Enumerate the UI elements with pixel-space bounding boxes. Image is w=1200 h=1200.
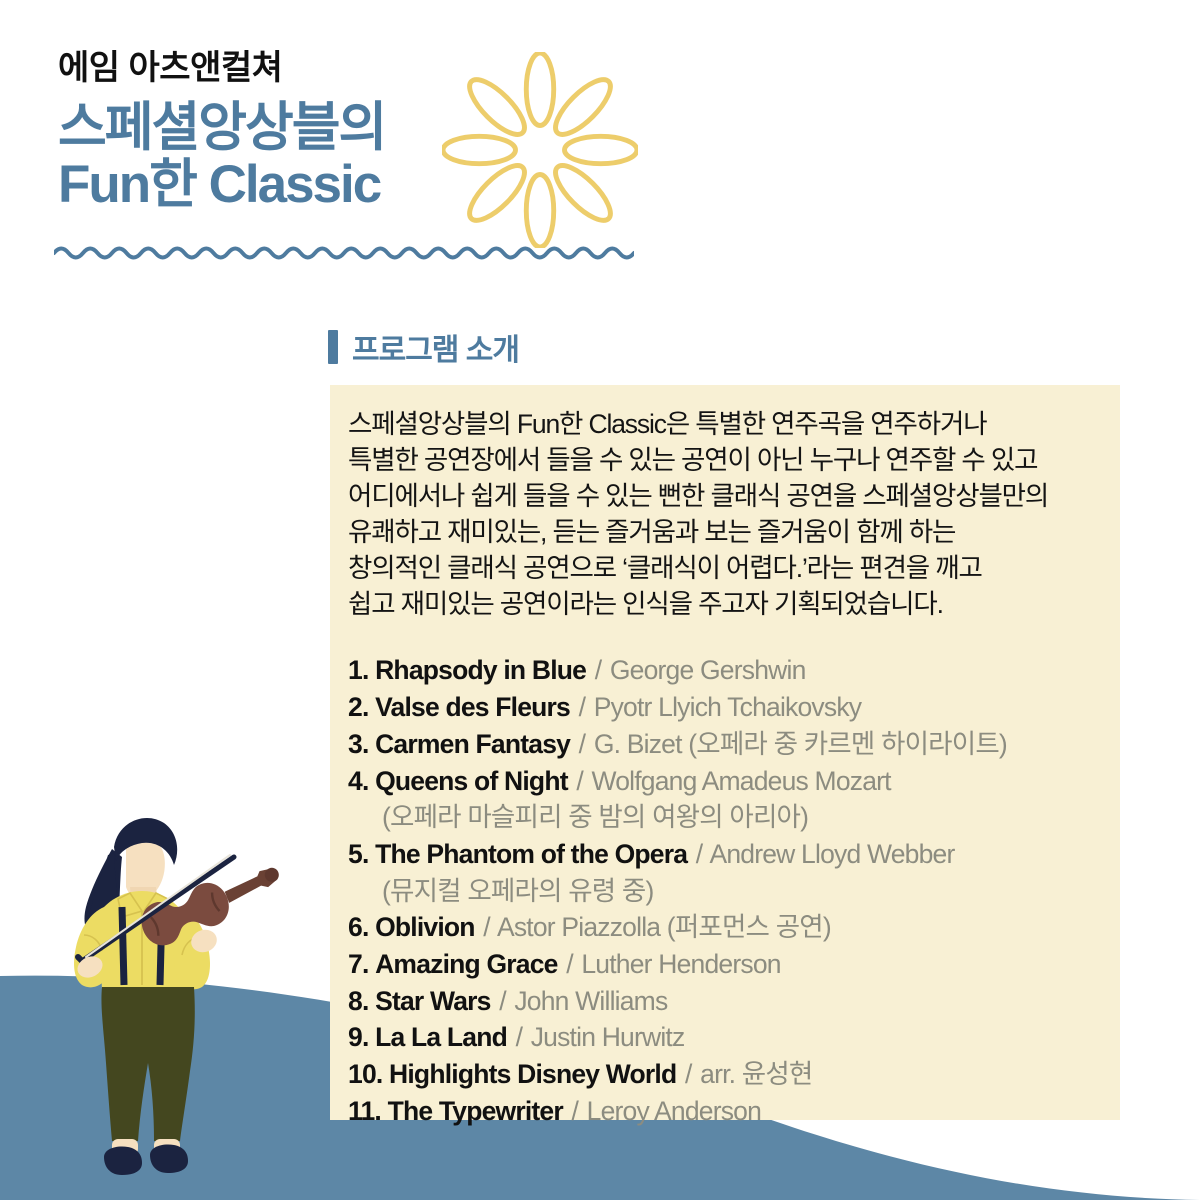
program-title: Highlights Disney World (389, 1059, 676, 1089)
program-separator: / (514, 1022, 525, 1052)
program-title: Queens of Night (375, 766, 568, 796)
program-list: 1. Rhapsody in Blue / George Gershwin 2.… (348, 652, 1106, 1129)
list-item: 3. Carmen Fantasy / G. Bizet (오페라 중 카르멘 … (348, 726, 1106, 763)
program-separator: / (497, 986, 508, 1016)
section-title-label: 프로그램 소개 (352, 325, 519, 369)
page-title-line-1: 스페셜앙상블의 (58, 99, 678, 156)
description-line: 스페셜앙상블의 Fun한 Classic은 특별한 연주곡을 연주하거나 (348, 407, 1106, 443)
program-composer: George Gershwin (610, 655, 806, 685)
list-item: 9. La La Land / Justin Hurwitz (348, 1019, 1106, 1056)
program-composer: Andrew Lloyd Webber (709, 839, 954, 869)
program-number: 3. (348, 729, 369, 759)
wavy-line-divider-icon (54, 240, 634, 266)
program-title: Carmen Fantasy (375, 729, 570, 759)
program-subtitle: (뮤지컬 오페라의 유령 중) (348, 873, 1106, 910)
list-item: 4. Queens of Night / Wolfgang Amadeus Mo… (348, 763, 1106, 836)
violinist-illustration (38, 795, 338, 1200)
organization-name: 에임 아츠앤컬쳐 (58, 48, 678, 89)
description-line: 유쾌하고 재미있는, 듣는 즐거움과 보는 즐거움이 함께 하는 (348, 515, 1106, 551)
program-composer: Leroy Anderson (587, 1096, 761, 1126)
program-composer: Luther Henderson (581, 949, 780, 979)
program-description: 스페셜앙상블의 Fun한 Classic은 특별한 연주곡을 연주하거나 특별한… (348, 407, 1106, 622)
page-title-line-2: Fun한 Classic (58, 156, 678, 213)
program-composer: arr. 윤성현 (700, 1059, 812, 1089)
program-number: 4. (348, 766, 369, 796)
program-number: 8. (348, 986, 369, 1016)
poster-canvas: 에임 아츠앤컬쳐 스페셜앙상블의 Fun한 Classic 프로그램 소개 (0, 0, 1200, 1200)
program-number: 6. (348, 912, 369, 942)
program-separator: / (593, 655, 604, 685)
program-number: 2. (348, 692, 369, 722)
program-composer: Pyotr Llyich Tchaikovsky (594, 692, 862, 722)
list-item: 8. Star Wars / John Williams (348, 983, 1106, 1020)
list-item: 6. Oblivion / Astor Piazzolla (퍼포먼스 공연) (348, 909, 1106, 946)
program-separator: / (694, 839, 705, 869)
program-title: Rhapsody in Blue (375, 655, 586, 685)
program-title: Oblivion (375, 912, 475, 942)
list-item: 10. Highlights Disney World / arr. 윤성현 (348, 1056, 1106, 1093)
list-item: 1. Rhapsody in Blue / George Gershwin (348, 652, 1106, 689)
program-number: 7. (348, 949, 369, 979)
program-separator: / (683, 1059, 694, 1089)
program-title: La La Land (375, 1022, 507, 1052)
description-line: 쉽고 재미있는 공연이라는 인식을 주고자 기획되었습니다. (348, 587, 1106, 623)
program-composer: Astor Piazzolla (퍼포먼스 공연) (497, 912, 831, 942)
description-line: 특별한 공연장에서 들을 수 있는 공연이 아닌 누구나 연주할 수 있고 (348, 443, 1106, 479)
section-accent-bar (328, 330, 338, 364)
program-composer: John Williams (514, 986, 667, 1016)
program-content-panel: 스페셜앙상블의 Fun한 Classic은 특별한 연주곡을 연주하거나 특별한… (330, 385, 1120, 1120)
program-title: The Phantom of the Opera (375, 839, 687, 869)
program-separator: / (569, 1096, 580, 1126)
program-title: Star Wars (375, 986, 491, 1016)
program-number: 10. (348, 1059, 382, 1089)
program-composer: Justin Hurwitz (531, 1022, 685, 1052)
description-line: 창의적인 클래식 공연으로 ‘클래식이 어렵다.’라는 편견을 깨고 (348, 551, 1106, 587)
program-title: Amazing Grace (375, 949, 558, 979)
description-line: 어디에서나 쉽게 들을 수 있는 뻔한 클래식 공연을 스페셜앙상블만의 (348, 479, 1106, 515)
program-separator: / (564, 949, 575, 979)
poster-header: 에임 아츠앤컬쳐 스페셜앙상블의 Fun한 Classic (58, 48, 678, 213)
list-item: 11. The Typewriter / Leroy Anderson (348, 1093, 1106, 1130)
program-title: Valse des Fleurs (375, 692, 570, 722)
program-separator: / (481, 912, 492, 942)
page-title: 스페셜앙상블의 Fun한 Classic (58, 99, 678, 213)
list-item: 5. The Phantom of the Opera / Andrew Llo… (348, 836, 1106, 909)
program-separator: / (577, 692, 588, 722)
program-number: 5. (348, 839, 369, 869)
program-composer: Wolfgang Amadeus Mozart (591, 766, 890, 796)
program-section-heading: 프로그램 소개 (328, 325, 519, 369)
program-subtitle: (오페라 마슬피리 중 밤의 여왕의 아리아) (348, 799, 1106, 836)
program-separator: / (577, 729, 588, 759)
program-separator: / (574, 766, 585, 796)
program-number: 11. (348, 1096, 381, 1126)
program-composer: G. Bizet (오페라 중 카르멘 하이라이트) (594, 729, 1007, 759)
program-title: The Typewriter (388, 1096, 563, 1126)
program-number: 1. (348, 655, 369, 685)
program-number: 9. (348, 1022, 369, 1052)
list-item: 7. Amazing Grace / Luther Henderson (348, 946, 1106, 983)
list-item: 2. Valse des Fleurs / Pyotr Llyich Tchai… (348, 689, 1106, 726)
